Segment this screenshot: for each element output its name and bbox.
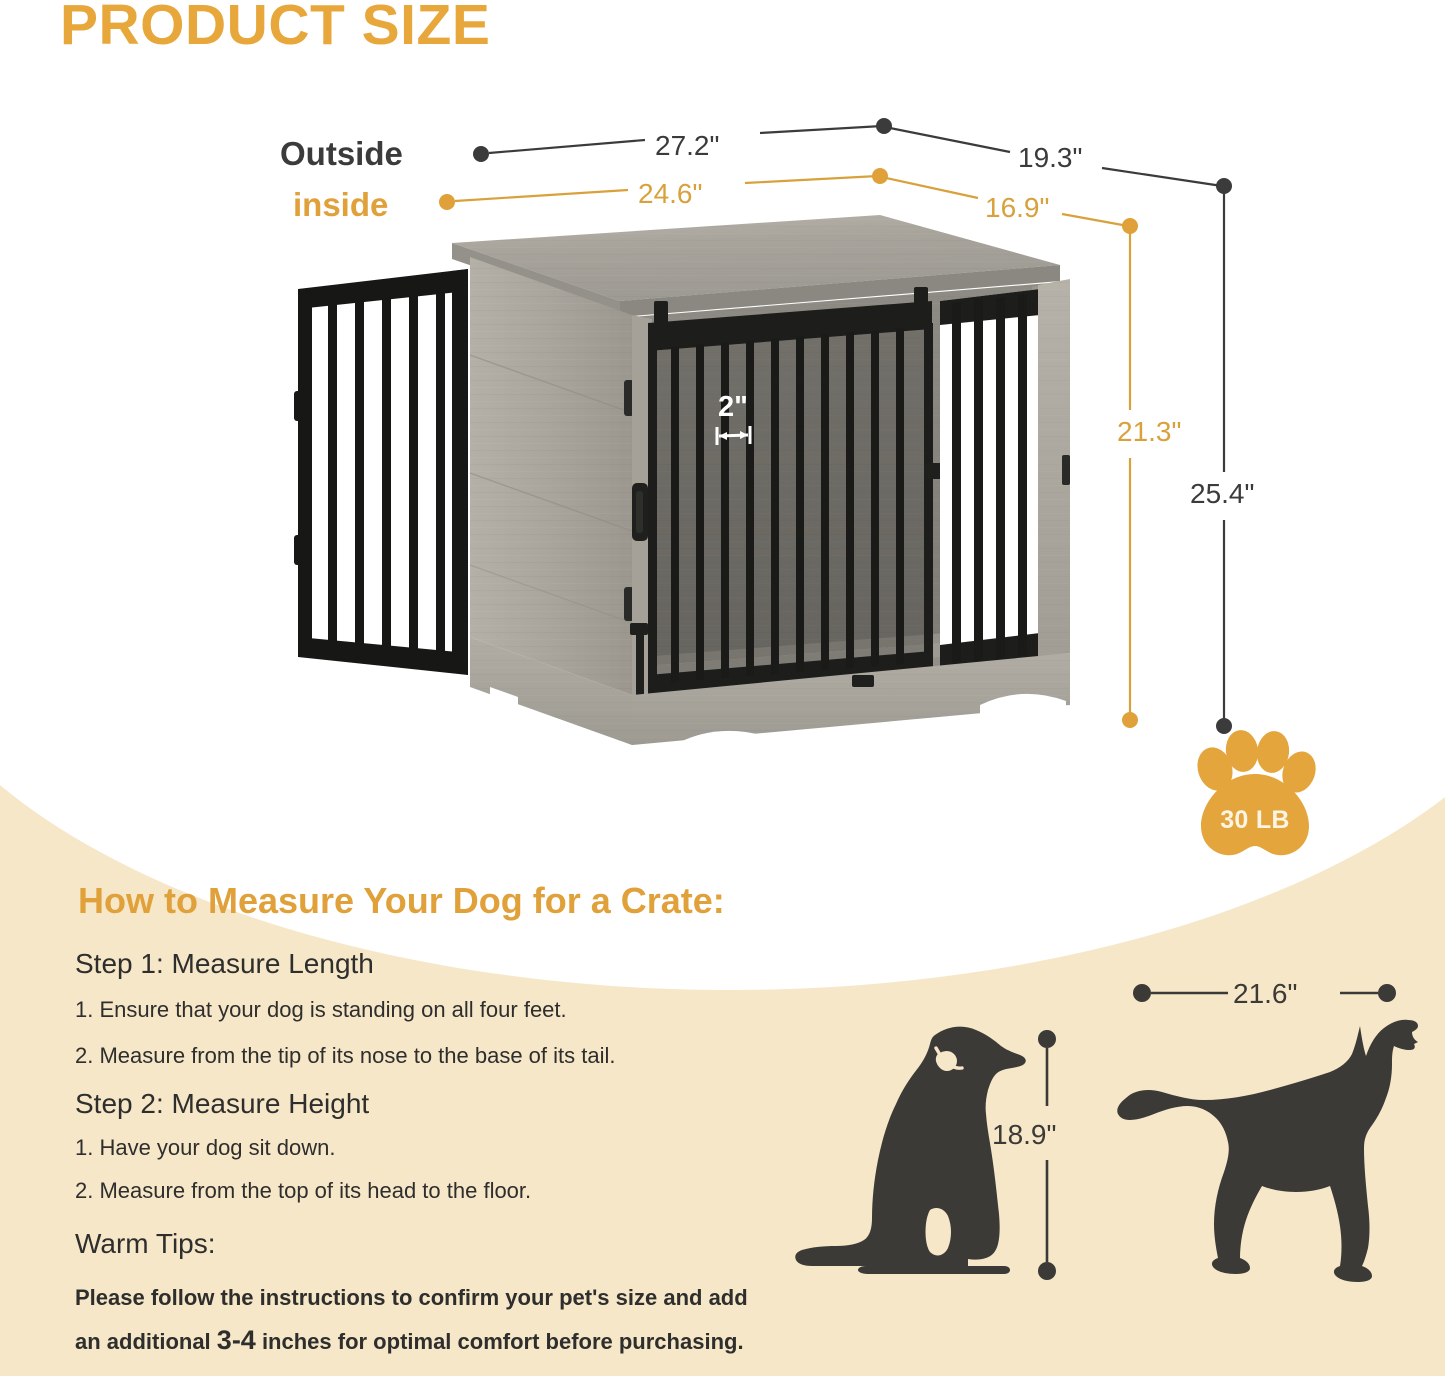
paw-weight-label: 30 LB [1185,806,1325,835]
dog-crate-illustration [280,205,1100,750]
outside-leader-dot-left [473,146,489,162]
warm-tips-line-1: Please follow the instructions to confir… [75,1285,748,1311]
dim-inside-height: 21.3" [1117,416,1181,448]
crate-open-door [294,269,468,675]
inside-leader-dot-apex [872,168,888,184]
warm-tips-emphasis: 3-4 [217,1325,256,1355]
step1-line-2: 2. Measure from the tip of its nose to t… [75,1043,616,1069]
warm-tips-line2-post: inches for optimal comfort before purcha… [256,1329,744,1354]
step2-line-1: 1. Have your dog sit down. [75,1135,335,1161]
dim-outside-height: 25.4" [1190,478,1254,510]
page-title: PRODUCT SIZE [60,0,490,57]
door-top-tab-left [654,301,668,327]
step1-title: Step 1: Measure Length [75,948,374,980]
door-handle-left [632,483,648,541]
side-hinge [1062,455,1070,485]
outside-leader-dot-apex [876,118,892,134]
warm-tips-line2-pre: an additional [75,1329,217,1354]
crate-left-side-panel [470,257,634,695]
dim-outside-depth: 19.3" [1018,142,1082,174]
legend-outside-label: Outside [280,135,403,173]
step2-line-2: 2. Measure from the top of its head to t… [75,1178,531,1204]
outside-leader-dot-right [1216,178,1232,194]
dim-outside-width: 27.2" [655,130,719,162]
dim-dog-height: 18.9" [992,1119,1056,1151]
base-latch [852,675,874,687]
warm-tips-line-2: an additional 3-4 inches for optimal com… [75,1325,744,1356]
dim-inside-width: 24.6" [638,178,702,210]
infographic-page: PRODUCT SIZE Outside inside [0,0,1445,1376]
crate-right-post [1038,279,1070,659]
step1-line-1: 1. Ensure that your dog is standing on a… [75,997,567,1023]
crate-right-end-bars [940,289,1042,667]
dim-bar-spacing: 2" [718,391,748,424]
dim-dog-length: 21.6" [1233,978,1297,1010]
measure-section-heading: How to Measure Your Dog for a Crate: [78,880,725,922]
inside-leader-dot-right [1122,218,1138,234]
warm-tips-title: Warm Tips: [75,1228,216,1260]
step2-title: Step 2: Measure Height [75,1088,369,1120]
door-top-tab-right [914,287,928,313]
paw-badge-icon [1185,728,1325,863]
dim-inside-depth: 16.9" [985,192,1049,224]
crate-front-door [630,287,956,699]
